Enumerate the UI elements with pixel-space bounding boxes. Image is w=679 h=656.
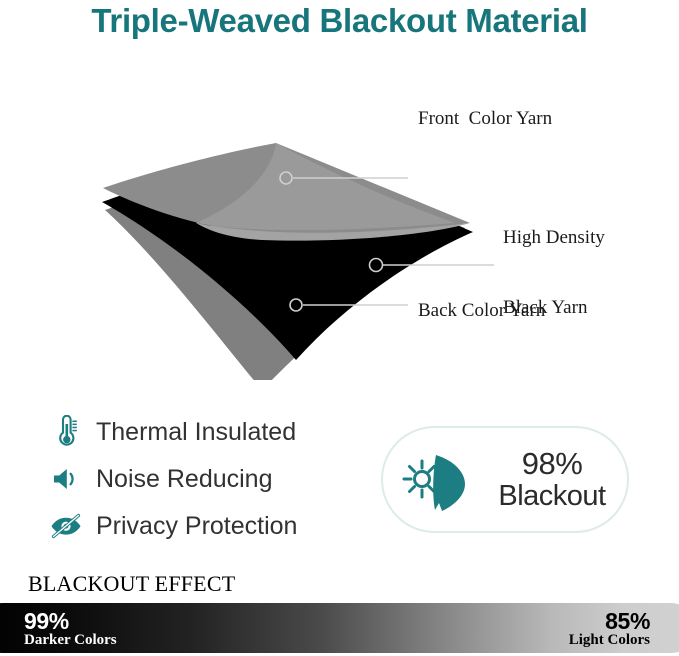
bar-left-stat: 99% Darker Colors: [24, 609, 117, 649]
bar-right-percent: 85%: [569, 609, 650, 633]
blackout-badge-text: 98% Blackout: [485, 447, 627, 512]
feature-label-privacy-protection: Privacy Protection: [96, 512, 297, 541]
blackout-word: Blackout: [485, 481, 619, 512]
bar-left-percent: 99%: [24, 609, 117, 633]
label-back-color-yarn: Back Color Yarn: [418, 299, 545, 322]
blackout-gradient-bar: 99% Darker Colors 85% Light Colors: [0, 603, 679, 653]
blackout-percent: 98%: [485, 447, 619, 480]
feature-list: Thermal Insulated Noise Reducing Privacy…: [46, 410, 376, 551]
feature-item-thermal-insulated: Thermal Insulated: [46, 410, 376, 454]
blackout-effect-bar-wrapper: 99% Darker Colors 85% Light Colors: [0, 603, 679, 653]
feature-label-noise-reducing: Noise Reducing: [96, 465, 273, 494]
blackout-badge: 98% Blackout: [381, 426, 629, 533]
feature-label-thermal-insulated: Thermal Insulated: [96, 418, 296, 447]
blackout-effect-heading: BLACKOUT EFFECT: [28, 571, 235, 597]
eye-slash-icon: [46, 507, 86, 545]
page-title: Triple-Weaved Blackout Material: [0, 2, 679, 40]
thermometer-icon: [46, 413, 86, 451]
label-high-density-line1: High Density: [503, 226, 605, 249]
feature-item-privacy-protection: Privacy Protection: [46, 504, 376, 548]
feature-item-noise-reducing: Noise Reducing: [46, 457, 376, 501]
bar-left-label: Darker Colors: [24, 633, 117, 649]
label-front-color-yarn: Front Color Yarn: [418, 107, 552, 130]
speaker-icon: [46, 460, 86, 498]
sun-blocked-curtain-icon: [389, 440, 485, 520]
bar-right-label: Light Colors: [569, 633, 650, 649]
bar-right-stat: 85% Light Colors: [569, 609, 650, 649]
